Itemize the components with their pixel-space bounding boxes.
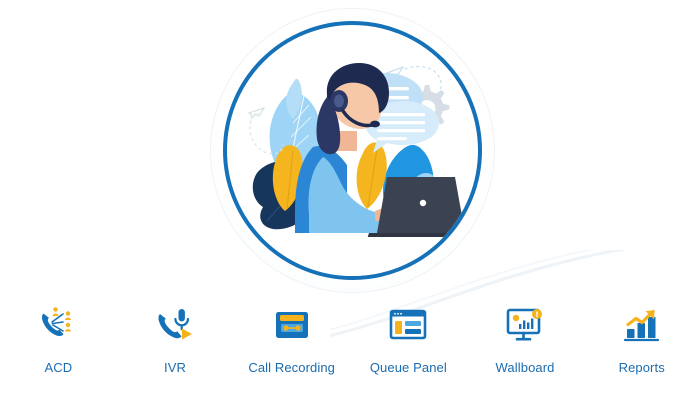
leaf-yellow-right [357,143,387,210]
feature-label-reports: Reports [619,360,665,375]
cassette-tape-icon [269,302,315,348]
phone-call-distribution-icon [35,302,81,348]
feature-item-acd[interactable]: ACD [0,296,117,375]
sidebar-block [395,321,402,334]
connector-lines [52,314,63,331]
phone-microphone-play-icon [152,302,198,348]
feature-item-wallboard[interactable]: Wallboard [467,296,584,375]
ground-fade [227,237,482,280]
microphone [175,309,188,329]
feature-item-call-recording[interactable]: Call Recording [233,296,350,375]
feature-label-wallboard: Wallboard [496,360,555,375]
inner-ring [223,21,482,280]
paper-plane-left [249,108,264,118]
window-titlebar [391,311,425,317]
feature-label-queue-panel: Queue Panel [370,360,447,375]
bubble-line [377,129,425,132]
feature-label-call-recording: Call Recording [248,360,335,375]
cassette-reel [283,325,288,330]
call-center-agent-illustration [227,25,482,280]
bubble-line [377,137,407,140]
feature-label-ivr: IVR [164,360,186,375]
play-triangle [182,329,192,340]
content-bar [405,329,421,334]
monitor-bars [519,319,533,330]
headset-earcup-inner [334,95,344,108]
hero-illustration-circle [210,8,495,293]
coin-small [513,315,519,321]
monitor-chart-icon [502,302,548,348]
feature-item-queue-panel[interactable]: Queue Panel [350,296,467,375]
feature-item-ivr[interactable]: IVR [117,296,234,375]
cassette-reel [295,325,300,330]
dashboard-window-icon [385,302,431,348]
laptop [367,177,475,239]
bubble-line [377,121,425,124]
page-root: ACD IVR [0,0,700,400]
bubble-line [377,113,425,116]
cassette-label [280,315,304,321]
headset-mic [370,121,380,128]
laptop-logo [420,200,426,206]
bar-chart-arrow-icon [619,302,665,348]
window-dots [394,313,402,315]
feature-row: ACD IVR [0,296,700,400]
feature-item-reports[interactable]: Reports [583,296,700,375]
content-bar [405,321,421,326]
feature-label-acd: ACD [44,360,72,375]
